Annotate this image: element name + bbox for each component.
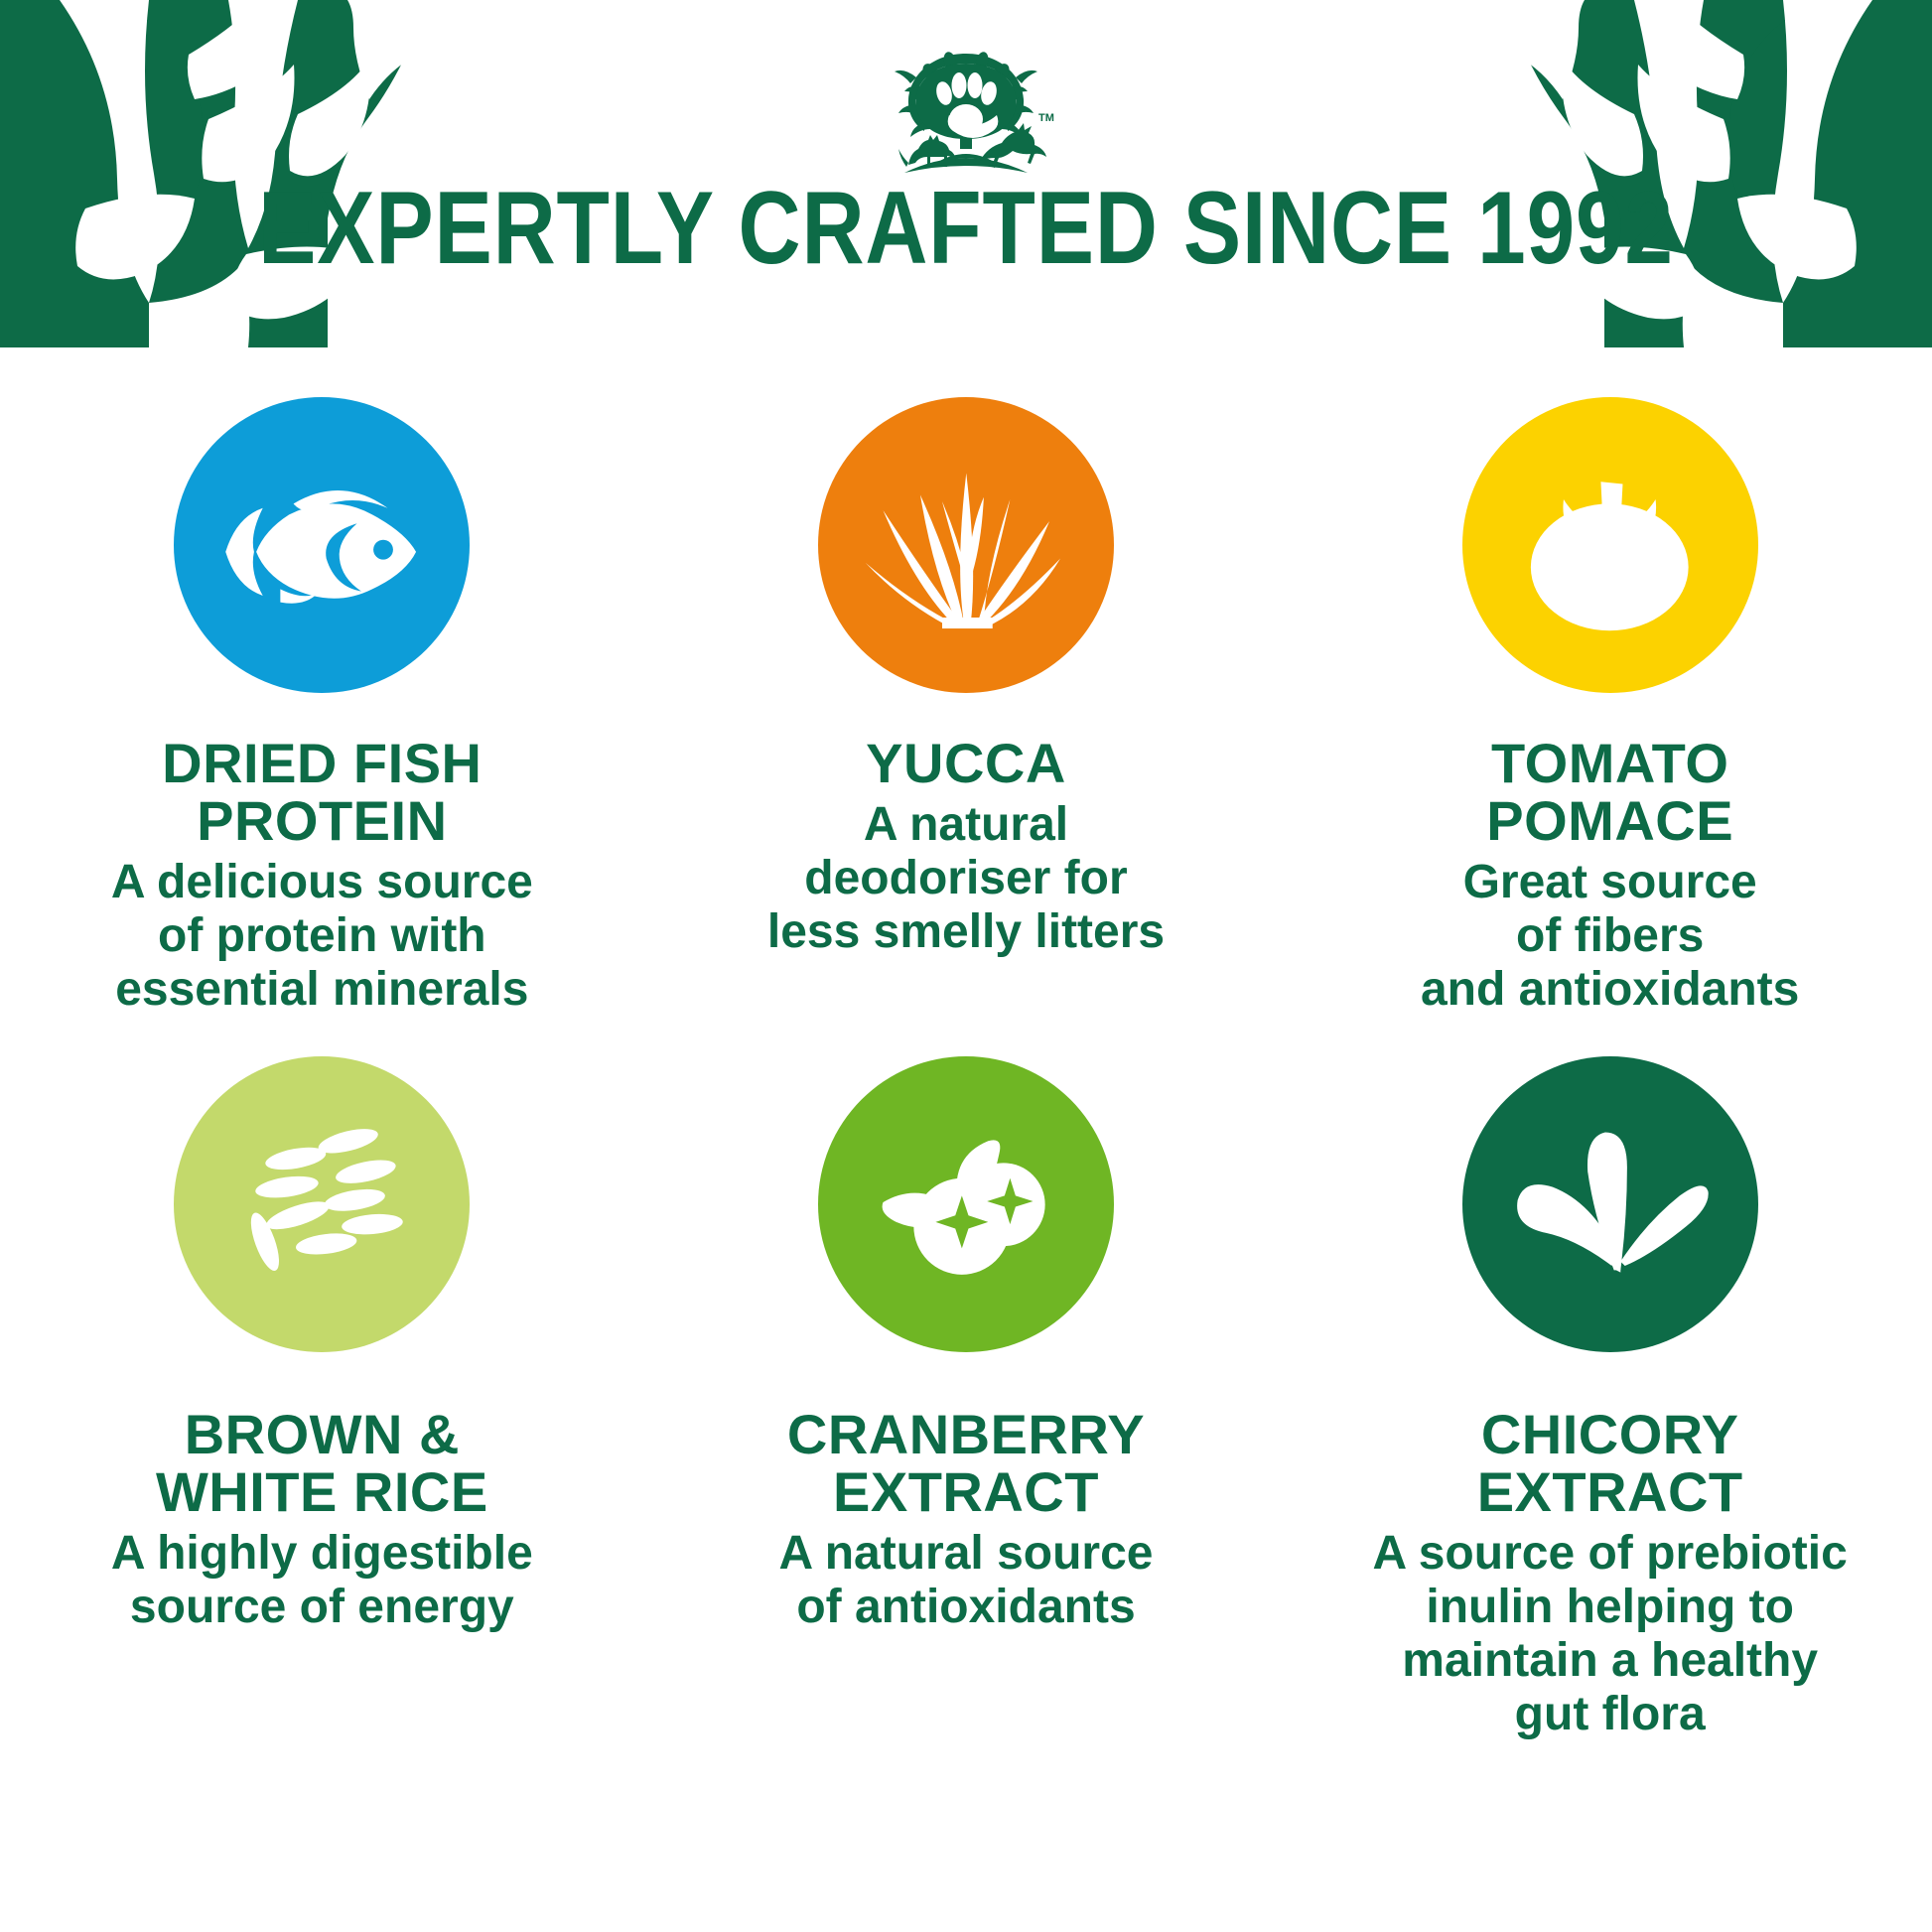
ingredient-title: DRIED FISH PROTEIN (162, 735, 482, 850)
yucca-plant-icon (857, 436, 1076, 655)
infographic-page: TM EXPERTLY CRAFTED SINCE 1992 (0, 0, 1932, 1932)
rice-grains-icon (212, 1095, 432, 1314)
ingredient-card-dried-fish-protein: DRIED FISH PROTEIN A delicious source of… (0, 397, 644, 1017)
chicory-leaves-icon (1500, 1095, 1720, 1314)
tomato-icon (1500, 436, 1720, 655)
icon-circle-chicory-extract (1462, 1056, 1758, 1352)
ingredient-title: CHICORY EXTRACT (1477, 1406, 1743, 1521)
ingredient-description: A source of prebiotic inulin helping to … (1373, 1527, 1848, 1741)
ingredient-title: YUCCA (866, 735, 1066, 792)
trademark-symbol: TM (1038, 112, 1054, 124)
ingredient-description: A natural source of antioxidants (778, 1527, 1153, 1634)
icon-circle-yucca (818, 397, 1114, 693)
ingredient-title: CRANBERRY EXTRACT (787, 1406, 1145, 1521)
ingredient-card-brown-white-rice: BROWN & WHITE RICE A highly digestible s… (0, 1056, 644, 1741)
tree-paw-logo: TM (877, 48, 1055, 182)
cranberry-icon (857, 1095, 1076, 1314)
fish-icon (212, 436, 432, 655)
ingredient-card-yucca: YUCCA A natural deodoriser for less smel… (644, 397, 1289, 1017)
ingredient-grid: DRIED FISH PROTEIN A delicious source of… (0, 397, 1932, 1741)
ingredient-card-cranberry-extract: CRANBERRY EXTRACT A natural source of an… (644, 1056, 1289, 1741)
icon-circle-cranberry-extract (818, 1056, 1114, 1352)
header-band: TM EXPERTLY CRAFTED SINCE 1992 (0, 0, 1932, 347)
ingredient-description: A highly digestible source of energy (111, 1527, 533, 1634)
page-title: EXPERTLY CRAFTED SINCE 1992 (155, 177, 1778, 280)
ingredient-card-chicory-extract: CHICORY EXTRACT A source of prebiotic in… (1288, 1056, 1932, 1741)
ingredient-description: A delicious source of protein with essen… (111, 856, 533, 1017)
ingredient-title: BROWN & WHITE RICE (156, 1406, 488, 1521)
ingredient-title: TOMATO POMACE (1486, 735, 1733, 850)
icon-circle-dried-fish-protein (174, 397, 470, 693)
ingredient-description: A natural deodoriser for less smelly lit… (767, 798, 1165, 959)
icon-circle-brown-white-rice (174, 1056, 470, 1352)
ingredient-description: Great source of fibers and antioxidants (1421, 856, 1799, 1017)
icon-circle-tomato-pomace (1462, 397, 1758, 693)
ingredient-card-tomato-pomace: TOMATO POMACE Great source of fibers and… (1288, 397, 1932, 1017)
